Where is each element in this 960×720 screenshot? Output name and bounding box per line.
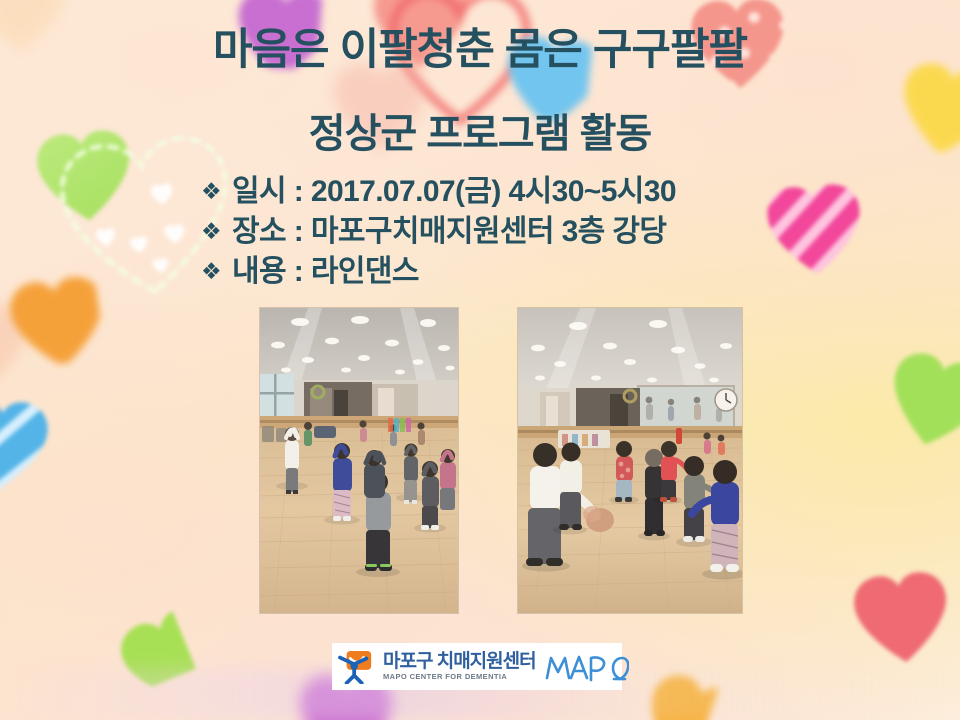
photo-line-dance-1 <box>260 308 458 613</box>
rose-heart <box>847 565 959 673</box>
logo-name-en: MAPO CENTER FOR DEMENTIA <box>383 672 536 681</box>
list-item-place-text: 장소 : 마포구치매지원센터 3층 강당 <box>232 212 666 252</box>
orange-heart <box>2 270 105 370</box>
diamond-bullet-icon: ❖ <box>200 220 222 243</box>
detail-list: ❖ 일시 : 2017.07.07(금) 4시30~5시30 ❖ 장소 : 마포… <box>200 172 676 293</box>
list-item-place: ❖ 장소 : 마포구치매지원센터 3층 강당 <box>200 212 676 252</box>
mapo-wordmark-icon <box>545 650 629 684</box>
page-title: 마음은 이팔청춘 몸은 구구팔팔 <box>0 28 960 73</box>
diamond-bullet-icon: ❖ <box>200 260 222 283</box>
pink-striped-heart <box>761 171 960 380</box>
page-subtitle: 정상군 프로그램 활동 <box>0 113 960 155</box>
poster-canvas: 마음은 이팔청춘 몸은 구구팔팔 정상군 프로그램 활동 ❖ 일시 : 2017… <box>0 0 960 720</box>
organization-logo: 마포구 치매지원센터 MAPO CENTER FOR DEMENTIA <box>332 643 622 690</box>
blue-striped-heart <box>0 395 161 604</box>
logo-name-ko: 마포구 치매지원센터 <box>383 652 536 672</box>
list-item-date: ❖ 일시 : 2017.07.07(금) 4시30~5시30 <box>200 172 676 212</box>
diamond-bullet-icon: ❖ <box>200 180 222 203</box>
list-item-content-text: 내용 : 라인댄스 <box>232 252 419 292</box>
logo-text-block: 마포구 치매지원센터 MAPO CENTER FOR DEMENTIA <box>383 652 536 682</box>
list-item-content: ❖ 내용 : 라인댄스 <box>200 252 676 292</box>
photo-line-dance-2 <box>518 308 742 613</box>
mapo-mark-icon <box>338 650 376 684</box>
list-item-date-text: 일시 : 2017.07.07(금) 4시30~5시30 <box>232 172 676 212</box>
